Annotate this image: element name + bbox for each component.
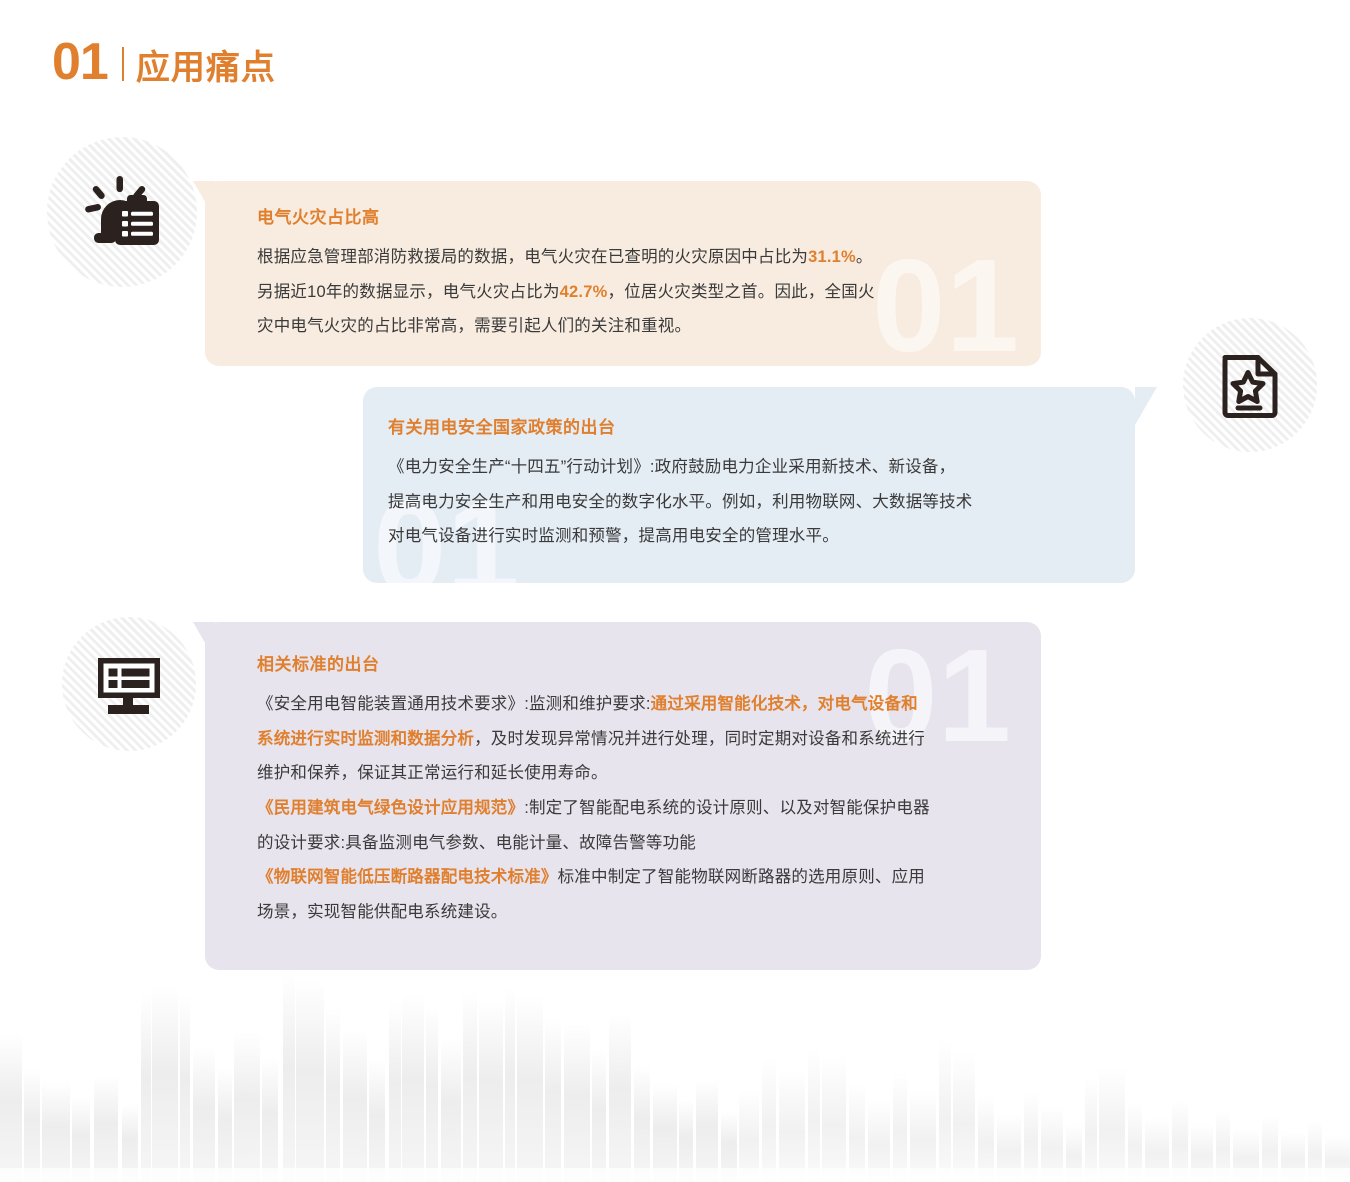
body-line: 根据应急管理部消防救援局的数据，电气火灾在已查明的火灾原因中占比为31.1%。 bbox=[257, 240, 1011, 275]
body-text: :制定了智能配电系统的设计原则、以及对智能保护电器 bbox=[524, 799, 930, 817]
card-related-standards: 01 相关标准的出台 《安全用电智能装置通用技术要求》:监测和维护要求:通过采用… bbox=[205, 622, 1041, 970]
highlight-text: 《物联网智能低压断路器配电技术标准》 bbox=[257, 868, 558, 886]
infographic-page: 01 应用痛点 bbox=[0, 0, 1350, 1182]
highlight-text: 《民用建筑电气绿色设计应用规范》 bbox=[257, 799, 524, 817]
page-title: 应用痛点 bbox=[136, 51, 276, 85]
body-line: 系统进行实时监测和数据分析，及时发现异常情况并进行处理，同时定期对设备和系统进行 bbox=[257, 722, 1019, 757]
card-body: 《电力安全生产“十四五”行动计划》:政府鼓励电力企业采用新技术、新设备，提高电力… bbox=[388, 450, 1105, 554]
body-line: 的设计要求:具备监测电气参数、电能计量、故障告警等功能 bbox=[257, 826, 1019, 861]
page-header: 01 应用痛点 bbox=[52, 36, 276, 88]
alarm-clipboard-icon bbox=[79, 169, 165, 255]
section-number: 01 bbox=[52, 36, 108, 88]
monitor-list-icon bbox=[92, 647, 166, 721]
body-line: 提高电力安全生产和用电安全的数字化水平。例如，利用物联网、大数据等技术 bbox=[388, 485, 1105, 520]
body-text: 的设计要求:具备监测电气参数、电能计量、故障告警等功能 bbox=[257, 834, 696, 852]
card-title: 有关用电安全国家政策的出台 bbox=[388, 413, 1105, 438]
certificate-star-icon bbox=[1213, 348, 1287, 422]
icon-badge-alarm bbox=[47, 137, 197, 287]
card-electrical-fire-ratio: 01 电气火灾占比高 根据应急管理部消防救援局的数据，电气火灾在已查明的火灾原因… bbox=[205, 181, 1041, 366]
body-text: 《安全用电智能装置通用技术要求》:监测和维护要求: bbox=[257, 695, 651, 713]
body-text: ，及时发现异常情况并进行处理，同时定期对设备和系统进行 bbox=[474, 730, 925, 748]
card-body: 《安全用电智能装置通用技术要求》:监测和维护要求:通过采用智能化技术，对电气设备… bbox=[257, 687, 1019, 929]
body-text: 灾中电气火灾的占比非常高，需要引起人们的关注和重视。 bbox=[257, 317, 691, 335]
highlight-text: 31.1% bbox=[808, 248, 856, 266]
body-text: 标准中制定了智能物联网断路器的选用原则、应用 bbox=[558, 868, 925, 886]
icon-badge-certificate bbox=[1183, 318, 1317, 452]
body-line: 《物联网智能低压断路器配电技术标准》标准中制定了智能物联网断路器的选用原则、应用 bbox=[257, 860, 1019, 895]
icon-badge-monitor bbox=[62, 617, 196, 751]
card-title: 相关标准的出台 bbox=[257, 650, 1019, 675]
body-text: 。 bbox=[856, 248, 873, 266]
skyline-svg bbox=[0, 972, 1350, 1182]
body-line: 《民用建筑电气绿色设计应用规范》:制定了智能配电系统的设计原则、以及对智能保护电… bbox=[257, 791, 1019, 826]
body-line: 《安全用电智能装置通用技术要求》:监测和维护要求:通过采用智能化技术，对电气设备… bbox=[257, 687, 1019, 722]
card-body: 根据应急管理部消防救援局的数据，电气火灾在已查明的火灾原因中占比为31.1%。另… bbox=[257, 240, 1011, 344]
body-line: 灾中电气火灾的占比非常高，需要引起人们的关注和重视。 bbox=[257, 309, 1011, 344]
highlight-text: 系统进行实时监测和数据分析 bbox=[257, 730, 474, 748]
body-text: 维护和保养，保证其正常运行和延长使用寿命。 bbox=[257, 764, 608, 782]
city-skyline-decoration bbox=[0, 972, 1350, 1182]
body-text: 对电气设备进行实时监测和预警，提高用电安全的管理水平。 bbox=[388, 527, 839, 545]
highlight-text: 通过采用智能化技术，对电气设备和 bbox=[651, 695, 918, 713]
card-title: 电气火灾占比高 bbox=[257, 203, 1011, 228]
body-text: 《电力安全生产“十四五”行动计划》:政府鼓励电力企业采用新技术、新设备， bbox=[388, 458, 955, 476]
body-line: 《电力安全生产“十四五”行动计划》:政府鼓励电力企业采用新技术、新设备， bbox=[388, 450, 1105, 485]
body-line: 另据近10年的数据显示，电气火灾占比为42.7%，位居火灾类型之首。因此，全国火 bbox=[257, 275, 1011, 310]
body-line: 对电气设备进行实时监测和预警，提高用电安全的管理水平。 bbox=[388, 519, 1105, 554]
body-text: 另据近10年的数据显示，电气火灾占比为 bbox=[257, 283, 560, 301]
card-national-policy: 01 有关用电安全国家政策的出台 《电力安全生产“十四五”行动计划》:政府鼓励电… bbox=[363, 387, 1135, 583]
body-line: 场景，实现智能供配电系统建设。 bbox=[257, 895, 1019, 930]
body-text: 根据应急管理部消防救援局的数据，电气火灾在已查明的火灾原因中占比为 bbox=[257, 248, 808, 266]
body-text: 提高电力安全生产和用电安全的数字化水平。例如，利用物联网、大数据等技术 bbox=[388, 493, 973, 511]
body-line: 维护和保养，保证其正常运行和延长使用寿命。 bbox=[257, 756, 1019, 791]
body-text: 场景，实现智能供配电系统建设。 bbox=[257, 903, 508, 921]
card-tail-2 bbox=[1135, 387, 1157, 425]
highlight-text: 42.7% bbox=[560, 283, 608, 301]
body-text: ，位居火灾类型之首。因此，全国火 bbox=[607, 283, 874, 301]
header-divider bbox=[122, 47, 124, 81]
